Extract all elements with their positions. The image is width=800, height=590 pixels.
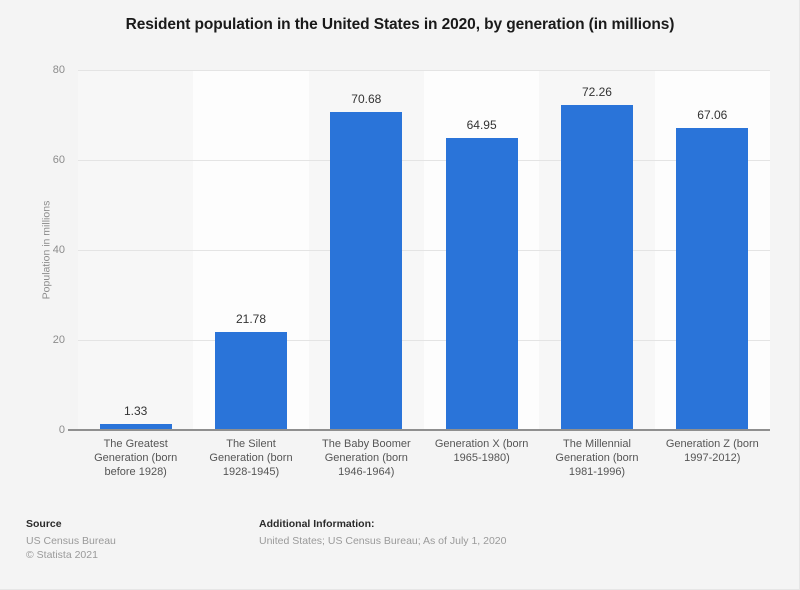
page-title: Resident population in the United States… xyxy=(0,16,800,34)
x-axis-label-line: Generation (born xyxy=(195,451,306,465)
bar[interactable] xyxy=(215,332,287,430)
y-axis-tick-label: 40 xyxy=(25,244,65,256)
bars-layer: 1.3321.7870.6864.9572.2667.06 xyxy=(78,70,770,430)
footer-additional-block: Additional Information: United States; U… xyxy=(259,518,506,548)
bar[interactable] xyxy=(561,105,633,430)
x-axis-label-line: 1928-1945) xyxy=(195,465,306,479)
additional-info-text: United States; US Census Bureau; As of J… xyxy=(259,534,506,548)
x-axis-label-line: 1981-1996) xyxy=(541,465,652,479)
x-axis-label-line: Generation X (born xyxy=(426,437,537,451)
x-axis-category-label: The GreatestGeneration (bornbefore 1928) xyxy=(78,437,193,479)
plot-area: 1.3321.7870.6864.9572.2667.06 xyxy=(78,70,770,430)
y-axis-tick-label: 80 xyxy=(25,64,65,76)
x-axis-label-line: Generation Z (born xyxy=(657,437,768,451)
y-axis-tick-label: 60 xyxy=(25,154,65,166)
bar-slot: 64.95 xyxy=(424,70,539,430)
x-axis-label-line: Generation (born xyxy=(541,451,652,465)
chart-page: Resident population in the United States… xyxy=(0,0,800,590)
x-axis-label-line: before 1928) xyxy=(80,465,191,479)
x-axis-label-line: 1965-1980) xyxy=(426,451,537,465)
x-axis-label-line: 1997-2012) xyxy=(657,451,768,465)
y-axis-tick-label: 20 xyxy=(25,334,65,346)
x-axis-labels: The GreatestGeneration (bornbefore 1928)… xyxy=(78,437,770,479)
bar-value-label: 1.33 xyxy=(124,404,147,418)
bar-value-label: 21.78 xyxy=(236,312,266,326)
x-axis-line xyxy=(68,429,770,431)
bar[interactable] xyxy=(676,128,748,430)
x-axis-label-line: Generation (born xyxy=(80,451,191,465)
x-axis-category-label: The MillennialGeneration (born1981-1996) xyxy=(539,437,654,479)
x-axis-label-line: 1946-1964) xyxy=(311,465,422,479)
x-axis-label-line: The Silent xyxy=(195,437,306,451)
bar[interactable] xyxy=(446,138,518,430)
bar-slot: 67.06 xyxy=(655,70,770,430)
x-axis-category-label: Generation Z (born1997-2012) xyxy=(655,437,770,479)
bar-value-label: 67.06 xyxy=(697,108,727,122)
x-axis-label-line: The Baby Boomer xyxy=(311,437,422,451)
copyright-text: © Statista 2021 xyxy=(26,548,116,562)
footer-source-block: Source US Census Bureau © Statista 2021 xyxy=(26,518,116,562)
bar[interactable] xyxy=(330,112,402,430)
bar-slot: 70.68 xyxy=(309,70,424,430)
footer: Source US Census Bureau © Statista 2021 … xyxy=(0,518,800,590)
y-axis-tick-label: 0 xyxy=(25,424,65,436)
x-axis-category-label: The Baby BoomerGeneration (born1946-1964… xyxy=(309,437,424,479)
bar-slot: 1.33 xyxy=(78,70,193,430)
x-axis-category-label: Generation X (born1965-1980) xyxy=(424,437,539,479)
bar-slot: 21.78 xyxy=(193,70,308,430)
bar-value-label: 64.95 xyxy=(467,118,497,132)
bar-value-label: 72.26 xyxy=(582,85,612,99)
source-name: US Census Bureau xyxy=(26,534,116,548)
bar-slot: 72.26 xyxy=(539,70,654,430)
x-axis-label-line: The Millennial xyxy=(541,437,652,451)
x-axis-label-line: The Greatest xyxy=(80,437,191,451)
x-axis-label-line: Generation (born xyxy=(311,451,422,465)
bar-value-label: 70.68 xyxy=(351,92,381,106)
source-heading: Source xyxy=(26,518,116,530)
additional-info-heading: Additional Information: xyxy=(259,518,506,530)
x-axis-category-label: The SilentGeneration (born1928-1945) xyxy=(193,437,308,479)
